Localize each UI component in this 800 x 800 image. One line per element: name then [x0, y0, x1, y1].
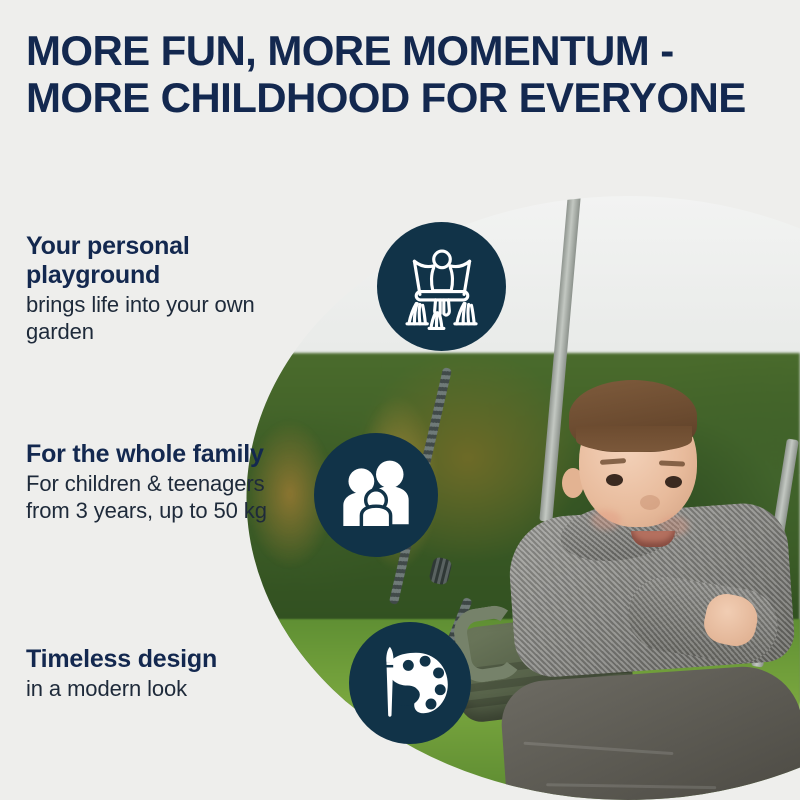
page-title: MORE FUN, MORE MOMENTUM - MORE CHILDHOOD… — [26, 28, 786, 121]
family-icon — [314, 433, 438, 557]
promo-banner: MORE FUN, MORE MOMENTUM - MORE CHILDHOOD… — [0, 0, 800, 800]
paint-palette-icon — [349, 622, 471, 744]
boy-nose — [640, 495, 660, 510]
boy-trousers — [499, 663, 800, 800]
feature-block-playground: Your personal playground brings life int… — [26, 232, 326, 346]
feature-title: Your personal playground — [26, 232, 326, 290]
feature-block-family: For the whole family For children & teen… — [26, 440, 326, 525]
boy-hair-fringe — [576, 426, 692, 452]
feature-subtitle: brings life into your own garden — [26, 292, 326, 346]
feature-subtitle: For children & teenagers from 3 years, u… — [26, 471, 326, 525]
feature-subtitle: in a modern look — [26, 676, 326, 703]
feature-title: Timeless design — [26, 645, 326, 674]
feature-title: For the whole family — [26, 440, 326, 469]
child-on-swing-icon — [377, 222, 506, 351]
feature-block-design: Timeless design in a modern look — [26, 645, 326, 703]
